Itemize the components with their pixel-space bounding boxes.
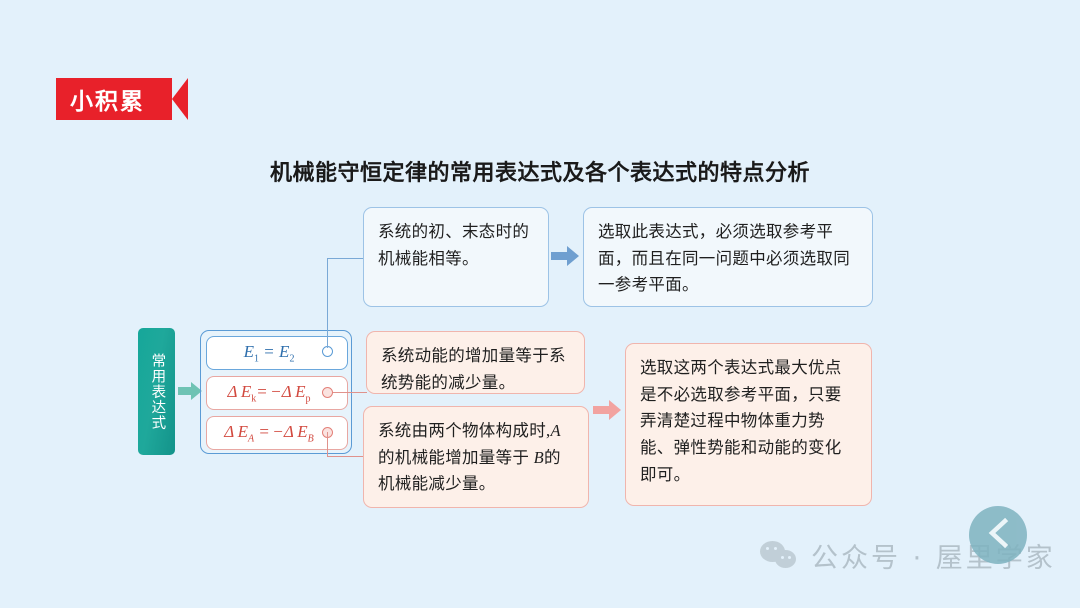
formula-3-text: Δ EA = −Δ EB — [224, 422, 329, 444]
note-4-part-a: 系统由两个物体构成时, — [378, 421, 550, 440]
left-category-label: 常用表达式 — [138, 328, 175, 455]
note-box-1: 系统的初、末态时的机械能相等。 — [363, 207, 549, 307]
anchor-dot-2 — [322, 387, 333, 398]
note-3-text: 系统动能的增加量等于系统势能的减少量。 — [381, 346, 566, 392]
pink-arrow-icon — [593, 400, 621, 420]
note-box-2: 选取此表达式，必须选取参考平面，而且在同一问题中必须选取同一参考平面。 — [583, 207, 873, 307]
note-box-3: 系统动能的增加量等于系统势能的减少量。 — [366, 331, 585, 394]
note-1-text: 系统的初、末态时的机械能相等。 — [378, 222, 529, 268]
back-button[interactable] — [969, 506, 1027, 564]
left-category-label-text: 常用表达式 — [149, 353, 165, 431]
wechat-icon — [760, 541, 798, 571]
note-2-text: 选取此表达式，必须选取参考平面，而且在同一问题中必须选取同一参考平面。 — [598, 222, 850, 294]
note-4-variable-b: B — [534, 448, 544, 467]
blue-arrow-icon — [551, 246, 579, 266]
slide-canvas: 小积累 机械能守恒定律的常用表达式及各个表达式的特点分析 常用表达式 E1 = … — [0, 0, 1080, 608]
page-title: 机械能守恒定律的常用表达式及各个表达式的特点分析 — [0, 155, 1080, 187]
note-box-5: 选取这两个表达式最大优点是不必选取参考平面，只要弄清楚过程中物体重力势能、弹性势… — [625, 343, 872, 506]
note-4-variable-a: A — [550, 421, 560, 440]
connector-1-vertical — [327, 258, 328, 348]
section-banner: 小积累 — [56, 78, 188, 120]
connector-2-horizontal — [333, 392, 367, 393]
connector-3-vertical — [327, 432, 328, 457]
chevron-left-icon — [985, 518, 1011, 553]
note-5-text: 选取这两个表达式最大优点是不必选取参考平面，只要弄清楚过程中物体重力势能、弹性势… — [640, 358, 842, 484]
formula-1-text: E1 = E2 — [244, 342, 311, 364]
formula-2-text: Δ Ek= −Δ Ep — [228, 382, 327, 404]
note-4-part-b: 的机械能增加量等于 — [378, 448, 534, 467]
teal-arrow-icon — [178, 382, 202, 400]
connector-3-horizontal — [327, 456, 364, 457]
note-box-4: 系统由两个物体构成时,A的机械能增加量等于 B的机械能减少量。 — [363, 406, 589, 508]
connector-1-horizontal — [327, 258, 364, 259]
banner-label: 小积累 — [70, 82, 145, 116]
